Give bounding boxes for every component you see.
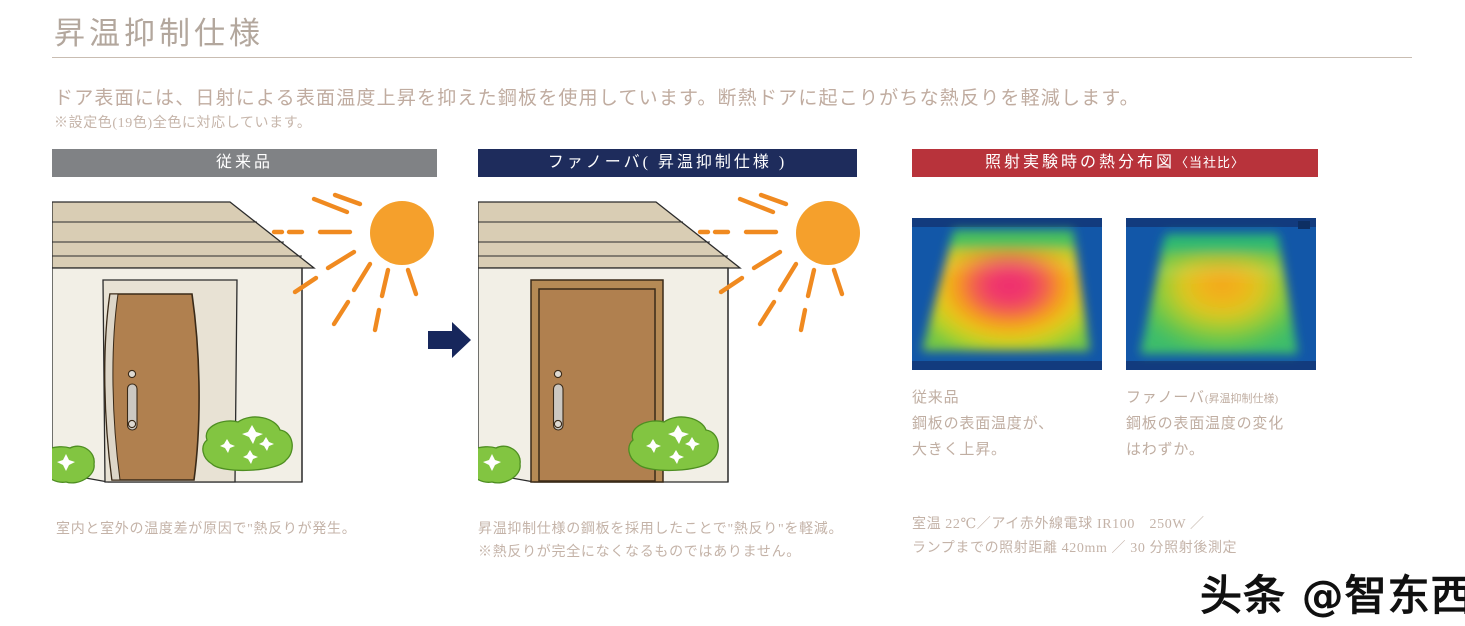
watermark: 头条 @智东西 [1200, 562, 1465, 623]
house-illustration-warped [52, 190, 452, 490]
thermal-header-label: 照射実験時の熱分布図 [985, 154, 1175, 171]
thermal-caption-fanoba-title: ファノーバ(昇温抑制仕様) [1126, 386, 1278, 407]
thermal-caption-conventional-title: 従来品 [912, 386, 959, 407]
caption-fanoba-line1: 昇温抑制仕様の鋼板を採用したことで"熱反り"を軽減。 [478, 518, 843, 538]
illustration-conventional [52, 190, 452, 490]
lead-paragraph: ドア表面には、日射による表面温度上昇を抑えた鋼板を使用しています。断熱ドアに起こ… [54, 83, 1140, 110]
thermal-caption-fanoba-line2: はわずか。 [1126, 438, 1205, 459]
sun-icon [370, 201, 434, 265]
transition-arrow-icon [428, 320, 472, 360]
page-title: 昇温抑制仕様 [54, 8, 264, 53]
panel-header-conventional: 従来品 [52, 149, 437, 177]
thermal-title-text: 従来品 [912, 390, 959, 406]
thermal-header-suffix: 〈当社比〉 [1175, 155, 1245, 170]
thermal-footnote-line2: ランプまでの照射距離 420mm ／ 30 分照射後測定 [912, 537, 1237, 557]
sun-icon [796, 201, 860, 265]
thermal-title-text: ファノーバ [1126, 390, 1205, 406]
thermal-title-suffix: (昇温抑制仕様) [1205, 393, 1278, 405]
thermal-caption-conventional-line2: 大きく上昇。 [912, 438, 1007, 459]
panel-header-thermal: 照射実験時の熱分布図〈当社比〉 [912, 149, 1318, 177]
thermal-footnote-line1: 室温 22℃／アイ赤外線電球 IR100 250W ／ [912, 513, 1205, 533]
illustration-fanoba [478, 190, 878, 490]
title-divider [52, 57, 1412, 58]
thermal-image-fanoba [1126, 218, 1316, 370]
slide-root: 昇温抑制仕様 ドア表面には、日射による表面温度上昇を抑えた鋼板を使用しています。… [0, 0, 1465, 626]
thermal-image-conventional [912, 218, 1102, 370]
house-illustration-flat [478, 190, 878, 490]
caption-fanoba-line2: ※熱反りが完全になくなるものではありません。 [478, 541, 801, 561]
caption-conventional: 室内と室外の温度差が原因で"熱反りが発生。 [56, 518, 356, 538]
panel-header-fanoba: ファノーバ( 昇温抑制仕様 ) [478, 149, 857, 177]
thermal-caption-conventional-line1: 鋼板の表面温度が、 [912, 412, 1054, 433]
thermal-caption-fanoba-line1: 鋼板の表面温度の変化 [1126, 412, 1284, 433]
lead-note: ※設定色(19色)全色に対応しています。 [54, 112, 312, 132]
